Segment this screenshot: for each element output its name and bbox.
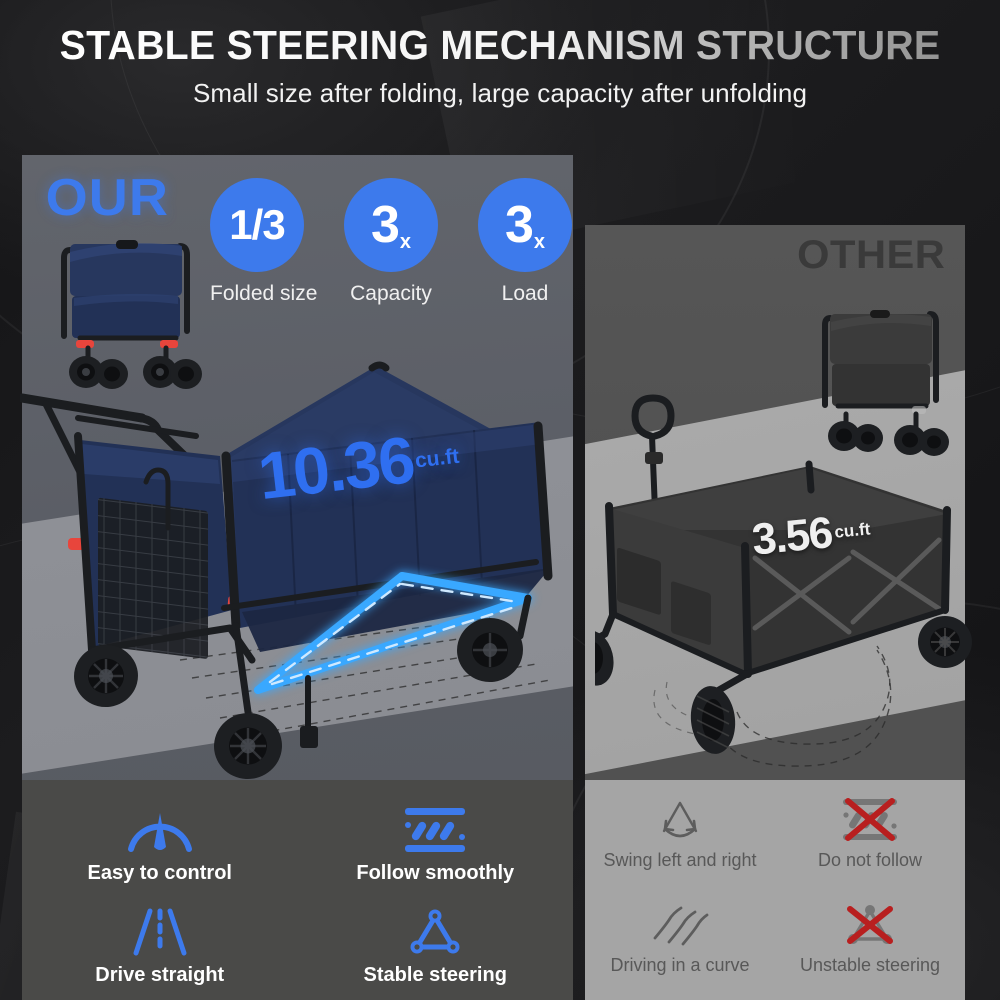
header: STABLE STEERING MECHANISM STRUCTURE Smal… (0, 0, 1000, 132)
other-brand-label: OTHER (797, 233, 945, 278)
badge-suffix: x (400, 231, 411, 254)
track-lines-icon (403, 802, 467, 858)
badge-label: Capacity (344, 282, 438, 306)
badge-value: 3 (371, 199, 399, 251)
stats-badges: 1/3 Folded size 3 x Capacity 3 x Load (210, 178, 572, 306)
swing-arc-icon (651, 794, 709, 846)
infographic-root: STABLE STEERING MECHANISM STRUCTURE Smal… (0, 0, 1000, 1000)
other-capacity-value: 3.56 (750, 508, 834, 564)
badge-circle: 3 x (478, 178, 572, 272)
badge-circle: 3 x (344, 178, 438, 272)
feature-unstable-steering: Unstable steering (775, 885, 965, 990)
feature-driving-in-a-curve: Driving in a curve (585, 885, 775, 990)
page-subtitle: Small size after folding, large capacity… (0, 78, 1000, 109)
other-floor (585, 359, 965, 780)
other-panel (585, 225, 965, 780)
triangle-node-icon (405, 904, 465, 960)
feature-drive-straight: Drive straight (22, 898, 298, 1000)
our-brand-label: OUR (46, 168, 169, 228)
feature-label: Swing left and right (603, 850, 756, 871)
feature-label: Driving in a curve (610, 955, 749, 976)
our-capacity-unit: cu.ft (414, 445, 461, 473)
feature-label: Easy to control (88, 862, 232, 885)
badge-suffix: x (534, 231, 545, 254)
triangle-node-crossed-icon (841, 899, 899, 951)
feature-label: Unstable steering (800, 955, 940, 976)
our-features-grid: Easy to control (22, 796, 573, 1000)
feature-label: Follow smoothly (356, 862, 514, 885)
feature-label: Do not follow (818, 850, 922, 871)
page-title: STABLE STEERING MECHANISM STRUCTURE (20, 22, 980, 69)
badge-folded-size: 1/3 Folded size (210, 178, 304, 306)
feature-swing-left-and-right: Swing left and right (585, 780, 775, 885)
feature-do-not-follow: Do not follow (775, 780, 965, 885)
our-features-panel: Easy to control (22, 780, 573, 1000)
badge-value: 1/3 (229, 204, 284, 246)
straight-road-icon (128, 904, 192, 960)
badge-label: Folded size (210, 282, 304, 306)
wavy-lines-icon (649, 899, 711, 951)
other-features-panel: Swing left and right (585, 780, 965, 1000)
feature-easy-to-control: Easy to control (22, 796, 298, 898)
feature-label: Drive straight (95, 964, 224, 987)
other-capacity-unit: cu.ft (834, 519, 872, 541)
other-features-grid: Swing left and right (585, 780, 965, 990)
feature-label: Stable steering (364, 964, 507, 987)
badge-capacity: 3 x Capacity (344, 178, 438, 306)
gauge-icon (125, 802, 195, 858)
badge-value: 3 (505, 199, 533, 251)
feature-stable-steering: Stable steering (298, 898, 574, 1000)
badge-circle: 1/3 (210, 178, 304, 272)
badge-load: 3 x Load (478, 178, 572, 306)
feature-follow-smoothly: Follow smoothly (298, 796, 574, 898)
track-lines-crossed-icon (840, 794, 900, 846)
badge-label: Load (478, 282, 572, 306)
